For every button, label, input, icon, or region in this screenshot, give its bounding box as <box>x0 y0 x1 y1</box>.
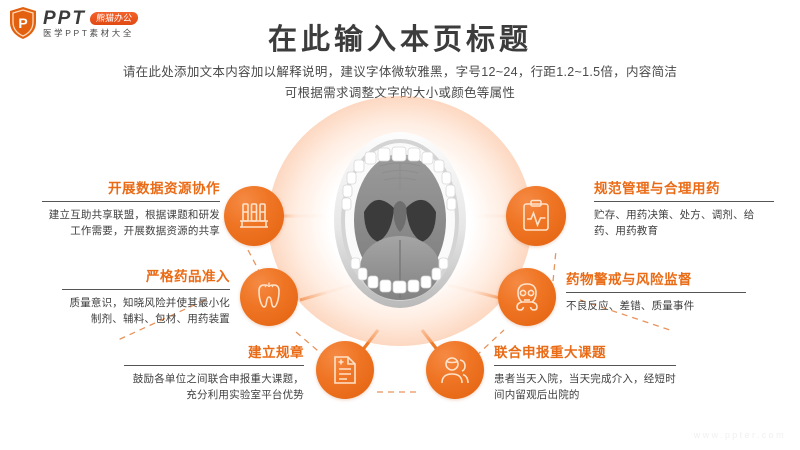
node-strict-drug-access[interactable] <box>240 268 298 326</box>
node-standard-management-rational-drug-use[interactable] <box>506 186 566 246</box>
divider <box>494 365 676 366</box>
clipboard-ecg-icon <box>520 199 552 233</box>
text-block-standard-management-rational-drug-use: 规范管理与合理用药 贮存、用药决策、处方、调剂、给药、用药教育 <box>594 180 774 239</box>
page-title: 在此输入本页标题 <box>0 16 800 58</box>
subtitle-line-1: 请在此处添加文本内容加以解释说明，建议字体微软雅黑，字号12~24，行距1.2~… <box>70 62 730 83</box>
divider <box>42 201 220 202</box>
text-block-establish-regulations: 建立规章 鼓励各单位之间联合申报重大课题，充分利用实验室平台优势 <box>124 344 304 403</box>
node-establish-regulations[interactable] <box>316 341 374 399</box>
node-joint-major-project-application[interactable] <box>426 341 484 399</box>
item-body: 贮存、用药决策、处方、调剂、给药、用药教育 <box>594 207 774 239</box>
divider <box>124 365 304 366</box>
text-block-strict-drug-access: 严格药品准入 质量意识，知晓风险并使其最小化制剂、辅料、包材、用药装置 <box>62 268 230 327</box>
tooth-icon <box>253 281 285 313</box>
item-title: 规范管理与合理用药 <box>594 180 774 197</box>
node-data-resource-cooperation[interactable] <box>224 186 284 246</box>
item-body: 质量意识，知晓风险并使其最小化制剂、辅料、包材、用药装置 <box>62 295 230 327</box>
item-title: 开展数据资源协作 <box>42 180 220 197</box>
divider <box>62 289 230 290</box>
gas-mask-icon <box>511 281 543 313</box>
text-block-data-resource-cooperation: 开展数据资源协作 建立互助共享联盟，根据课题和研发工作需要，开展数据资源的共享 <box>42 180 220 239</box>
node-pharmacovigilance-risk-supervision[interactable] <box>498 268 556 326</box>
item-body: 鼓励各单位之间联合申报重大课题，充分利用实验室平台优势 <box>124 371 304 403</box>
item-body: 建立互助共享联盟，根据课题和研发工作需要，开展数据资源的共享 <box>42 207 220 239</box>
item-title: 建立规章 <box>124 344 304 361</box>
item-body: 患者当天入院，当天完成介入，经短时间内留观后出院的 <box>494 371 676 403</box>
text-block-pharmacovigilance-risk-supervision: 药物警戒与风险监督 不良反应、差错、质量事件 <box>566 271 746 314</box>
item-title: 联合申报重大课题 <box>494 344 676 361</box>
test-tube-rack-icon <box>237 199 271 233</box>
center-illustration <box>310 128 490 313</box>
item-title: 药物警戒与风险监督 <box>566 271 746 288</box>
document-plus-icon <box>330 354 360 386</box>
two-people-icon <box>439 354 471 386</box>
text-block-joint-major-project-application: 联合申报重大课题 患者当天入院，当天完成介入，经短时间内留观后出院的 <box>494 344 676 403</box>
divider <box>594 201 774 202</box>
divider <box>566 292 746 293</box>
footer-watermark: www.ppter.com <box>694 430 786 440</box>
open-mouth-icon <box>310 128 490 313</box>
item-body: 不良反应、差错、质量事件 <box>566 298 746 314</box>
item-title: 严格药品准入 <box>62 268 230 285</box>
